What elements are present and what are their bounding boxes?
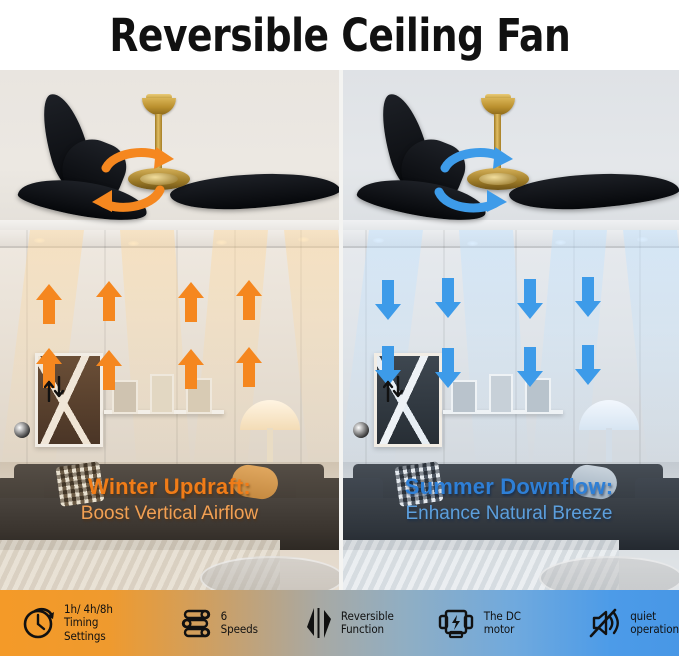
feature-timing-settings: 1h/ 4h/8h Timing Settings <box>22 590 137 656</box>
feature-bar: 1h/ 4h/8h Timing Settings 6 Speeds <box>0 590 679 656</box>
reversible-glyph-icon <box>383 376 405 407</box>
sliders-icon <box>181 607 213 639</box>
caption-summer-subtitle: Enhance Natural Breeze <box>339 502 679 526</box>
caption-winter-subtitle: Boost Vertical Airflow <box>0 502 339 526</box>
feature-dc-motor-label: The DC motor <box>484 610 548 637</box>
title-bar: Reversible Ceiling Fan <box>0 0 679 70</box>
feature-timing-label: 1h/ 4h/8h Timing Settings <box>64 603 137 644</box>
panel-winter-updraft: Winter Updraft: Boost Vertical Airflow <box>0 70 339 590</box>
caption-summer-title: Summer Downflow: <box>339 474 679 500</box>
comparison-panels: Winter Updraft: Boost Vertical Airflow <box>0 70 679 590</box>
feature-quiet-label: quiet operation <box>630 610 679 637</box>
panel-summer-downflow: Summer Downflow: Enhance Natural Breeze <box>339 70 679 590</box>
caption-winter: Winter Updraft: Boost Vertical Airflow <box>0 474 339 526</box>
updown-arrows-icon <box>305 606 333 640</box>
caption-summer: Summer Downflow: Enhance Natural Breeze <box>339 474 679 526</box>
mute-icon <box>588 607 622 639</box>
feature-six-speeds: 6 Speeds <box>181 590 263 656</box>
page-title: Reversible Ceiling Fan <box>109 13 570 58</box>
feature-speeds-label: 6 Speeds <box>221 610 263 637</box>
dc-motor-icon <box>436 607 476 639</box>
product-infographic: Reversible Ceiling Fan <box>0 0 679 656</box>
feature-reversible-label: Reversible Function <box>341 610 394 637</box>
caption-winter-title: Winter Updraft: <box>0 474 339 500</box>
clock-icon <box>22 606 56 640</box>
feature-reversible-function: Reversible Function <box>305 590 394 656</box>
reversible-glyph-icon <box>44 376 66 407</box>
feature-quiet-operation: quiet operation <box>588 590 679 656</box>
feature-dc-motor: The DC motor <box>436 590 548 656</box>
